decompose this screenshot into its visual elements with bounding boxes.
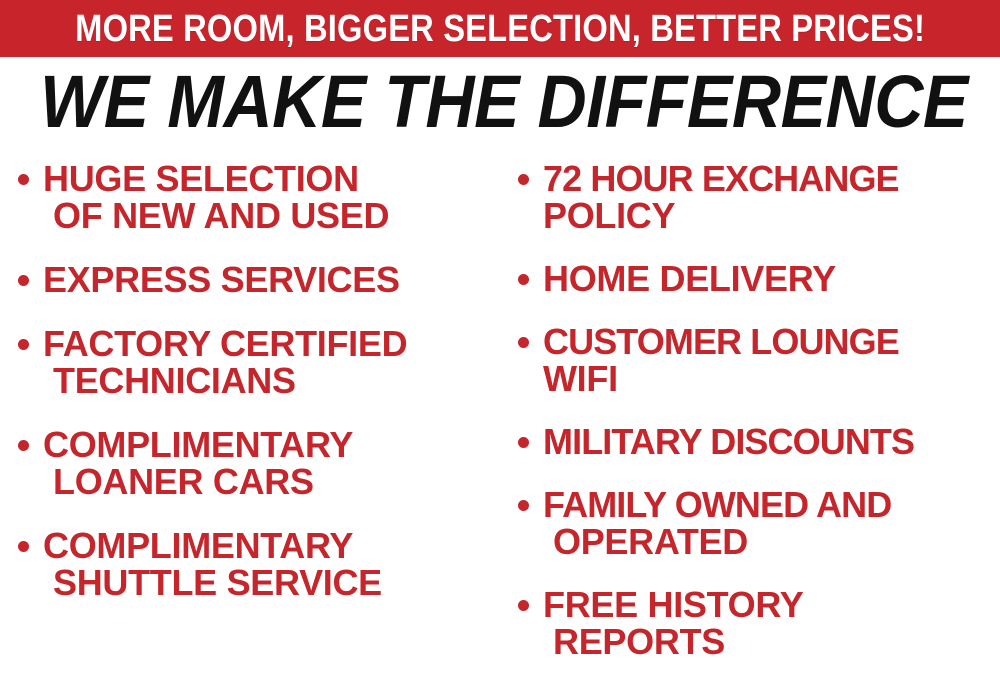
bullet-dot-icon: [518, 600, 529, 611]
bullet-dot-icon: [518, 274, 529, 285]
list-item-line: COMPLIMENTARY: [43, 527, 508, 564]
bullet-dot-icon: [518, 337, 529, 348]
list-item-text: EXPRESS SERVICES: [43, 261, 508, 298]
list-item-line: FACTORY CERTIFIED: [43, 325, 508, 362]
list-item: HOME DELIVERY: [518, 260, 1000, 297]
benefits-column-right: 72 HOUR EXCHANGE POLICY HOME DELIVERY CU…: [518, 160, 1000, 686]
list-item: FAMILY OWNED AND OPERATED: [518, 486, 1000, 560]
list-item-line: CUSTOMER LOUNGE: [543, 323, 1000, 360]
bullet-dot-icon: [18, 174, 29, 185]
list-item-line: OPERATED: [543, 523, 1000, 560]
list-item-text: FREE HISTORY REPORTS: [543, 586, 1000, 660]
list-item-line: FAMILY OWNED AND: [543, 486, 1000, 523]
list-item-line: SHUTTLE SERVICE: [43, 564, 508, 601]
list-item-line: HUGE SELECTION: [43, 160, 508, 197]
list-item-line: MILITARY DISCOUNTS: [543, 423, 1000, 460]
list-item-text: COMPLIMENTARY SHUTTLE SERVICE: [43, 527, 508, 601]
page-title: WE MAKE THE DIFFERENCE: [40, 64, 960, 140]
advertisement-graphic: MORE ROOM, BIGGER SELECTION, BETTER PRIC…: [0, 0, 1000, 694]
list-item: COMPLIMENTARY SHUTTLE SERVICE: [18, 527, 508, 601]
list-item-line: EXPRESS SERVICES: [43, 261, 508, 298]
list-item-line: HOME DELIVERY: [543, 260, 1000, 297]
promo-banner: MORE ROOM, BIGGER SELECTION, BETTER PRIC…: [0, 0, 1000, 57]
bullet-dot-icon: [518, 500, 529, 511]
list-item-text: HUGE SELECTION OF NEW AND USED: [43, 160, 508, 234]
list-item: 72 HOUR EXCHANGE POLICY: [518, 160, 1000, 234]
list-item: FACTORY CERTIFIED TECHNICIANS: [18, 325, 508, 399]
list-item-line: POLICY: [543, 197, 1000, 234]
list-item-line: OF NEW AND USED: [43, 197, 508, 234]
list-item-text: CUSTOMER LOUNGE WIFI: [543, 323, 1000, 397]
list-item: FREE HISTORY REPORTS: [518, 586, 1000, 660]
list-item-line: TECHNICIANS: [43, 362, 508, 399]
list-item-line: COMPLIMENTARY: [43, 426, 508, 463]
list-item: COMPLIMENTARY LOANER CARS: [18, 426, 508, 500]
promo-banner-text: MORE ROOM, BIGGER SELECTION, BETTER PRIC…: [75, 10, 925, 48]
list-item: CUSTOMER LOUNGE WIFI: [518, 323, 1000, 397]
list-item-text: FACTORY CERTIFIED TECHNICIANS: [43, 325, 508, 399]
list-item: MILITARY DISCOUNTS: [518, 423, 1000, 460]
bullet-dot-icon: [518, 174, 529, 185]
bullet-dot-icon: [518, 437, 529, 448]
list-item-line: FREE HISTORY: [543, 586, 1000, 623]
bullet-dot-icon: [18, 440, 29, 451]
benefits-columns: HUGE SELECTION OF NEW AND USED EXPRESS S…: [0, 160, 1000, 694]
list-item-line: LOANER CARS: [43, 463, 508, 500]
list-item-text: FAMILY OWNED AND OPERATED: [543, 486, 1000, 560]
list-item-text: MILITARY DISCOUNTS: [543, 423, 1000, 460]
list-item-text: HOME DELIVERY: [543, 260, 1000, 297]
list-item: EXPRESS SERVICES: [18, 261, 508, 298]
list-item-text: 72 HOUR EXCHANGE POLICY: [543, 160, 1000, 234]
bullet-dot-icon: [18, 339, 29, 350]
list-item-line: REPORTS: [543, 623, 1000, 660]
list-item-line: 72 HOUR EXCHANGE: [543, 160, 1000, 197]
list-item-line: WIFI: [543, 360, 1000, 397]
bullet-dot-icon: [18, 541, 29, 552]
list-item-text: COMPLIMENTARY LOANER CARS: [43, 426, 508, 500]
list-item: HUGE SELECTION OF NEW AND USED: [18, 160, 508, 234]
benefits-column-left: HUGE SELECTION OF NEW AND USED EXPRESS S…: [18, 160, 508, 628]
bullet-dot-icon: [18, 275, 29, 286]
